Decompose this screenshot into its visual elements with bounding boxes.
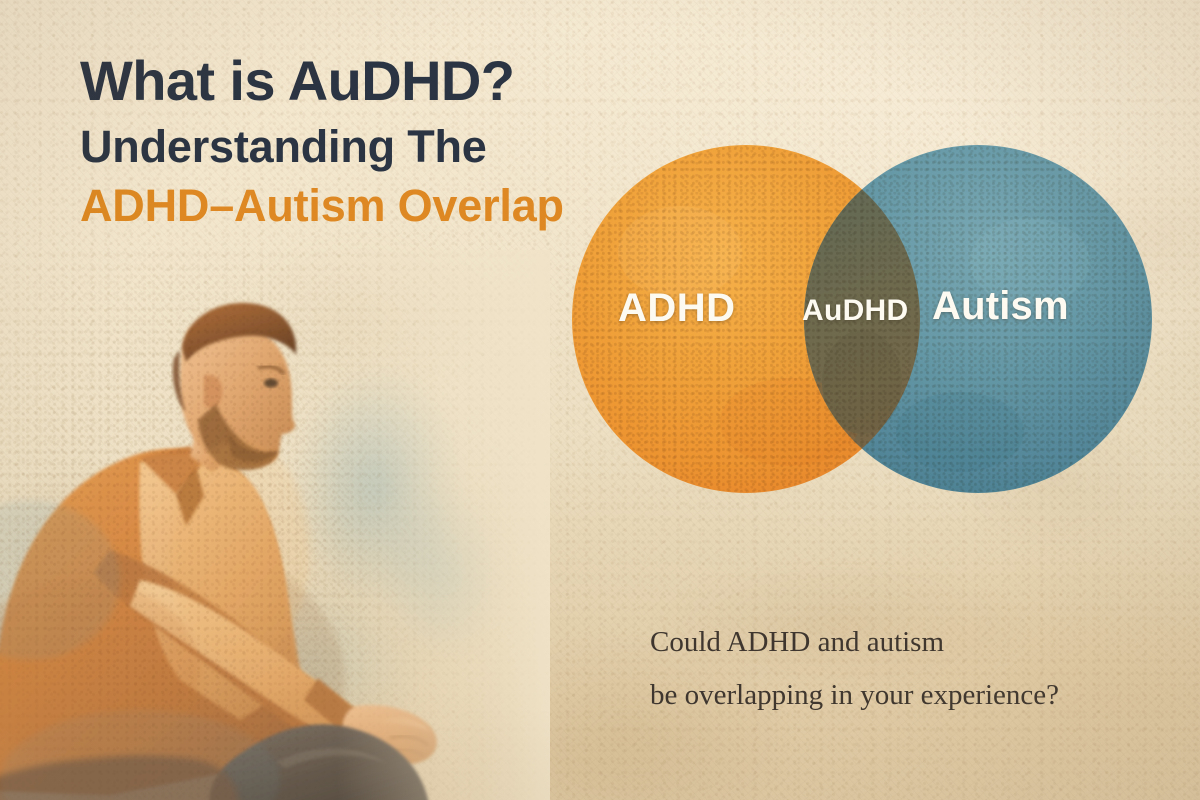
illustration-seated-man xyxy=(0,250,550,800)
headline-block: What is AuDHD? Understanding The ADHD–Au… xyxy=(80,52,640,230)
caption-line-1: Could ADHD and autism xyxy=(650,616,1170,669)
venn-label-audhd: AuDHD xyxy=(802,294,909,328)
caption-line-2: be overlapping in your experience? xyxy=(650,669,1170,722)
poster-canvas: What is AuDHD? Understanding The ADHD–Au… xyxy=(0,0,1200,800)
seated-man-svg xyxy=(0,250,550,800)
caption-block: Could ADHD and autism be overlapping in … xyxy=(650,616,1170,722)
headline-subtitle: Understanding The xyxy=(80,123,640,170)
venn-label-autism: Autism xyxy=(932,284,1069,329)
venn-diagram: ADHD AuDHD Autism xyxy=(560,132,1170,507)
venn-label-adhd: ADHD xyxy=(618,286,736,331)
page-title: What is AuDHD? xyxy=(80,52,640,109)
headline-accent-line: ADHD–Autism Overlap xyxy=(80,182,640,229)
